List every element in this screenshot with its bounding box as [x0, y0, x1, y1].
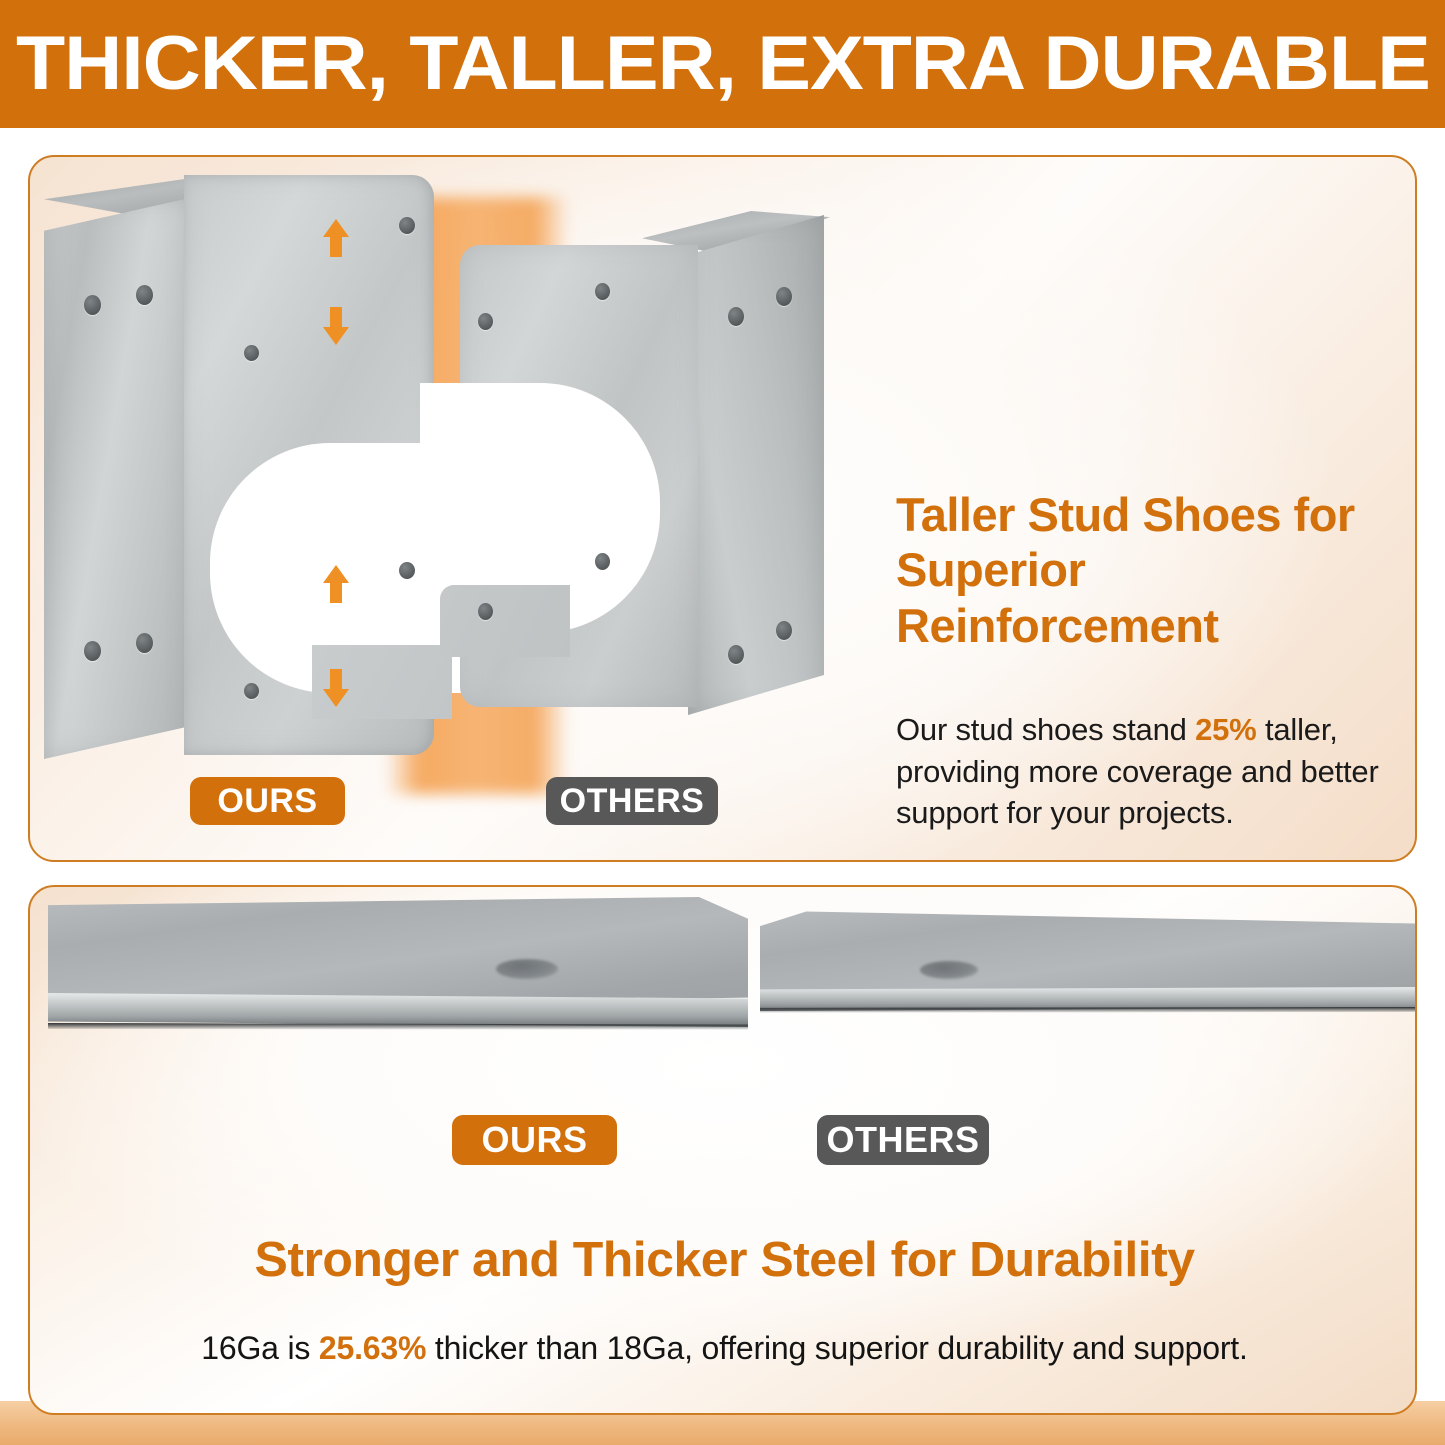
steel-thickness-comparison-photo	[30, 887, 1417, 1187]
screw-hole	[84, 641, 101, 661]
screw-hole	[136, 285, 153, 305]
plate-others-surface-mark	[920, 961, 978, 979]
screw-hole	[776, 621, 792, 640]
banner-title: THICKER, TALLER, EXTRA DURABLE	[16, 26, 1430, 102]
bracket-others-cutout-foot	[440, 585, 570, 657]
header-banner: THICKER, TALLER, EXTRA DURABLE	[0, 0, 1445, 128]
bracket-others-side-flange	[688, 215, 824, 715]
steel-plate-others	[760, 909, 1417, 1031]
screw-hole	[244, 345, 259, 361]
screw-hole	[595, 553, 610, 570]
arrow-up-icon	[321, 563, 351, 605]
stud-shoe-comparison-photo	[30, 157, 830, 797]
screw-hole	[728, 307, 744, 326]
top-card-text-block: Taller Stud Shoes for Superior Reinforce…	[896, 487, 1408, 833]
top-feature-card: Taller Stud Shoes for Superior Reinforce…	[28, 155, 1417, 862]
arrow-down-icon	[321, 305, 351, 347]
screw-hole	[728, 645, 744, 664]
bracket-ours	[44, 175, 434, 767]
screw-hole	[776, 287, 792, 306]
arrow-down-icon	[321, 667, 351, 709]
screw-hole	[136, 633, 153, 653]
screw-hole	[244, 683, 259, 699]
plate-ours-edge-thickness	[48, 993, 748, 1027]
bottom-feature-card: Stronger and Thicker Steel for Durabilit…	[28, 885, 1417, 1415]
bottom-card-sub-highlight: 25.63%	[319, 1330, 426, 1366]
bottom-card-heading: Stronger and Thicker Steel for Durabilit…	[28, 1232, 1417, 1288]
bottom-card-text-block: Stronger and Thicker Steel for Durabilit…	[30, 1232, 1417, 1367]
top-card-body: Our stud shoes stand 25% taller, providi…	[896, 709, 1408, 833]
screw-hole	[84, 295, 101, 315]
top-card-body-prefix: Our stud shoes stand	[896, 712, 1195, 747]
badge-ours-bottom: OURS	[452, 1115, 617, 1165]
screw-hole	[478, 603, 493, 620]
steel-plate-ours	[48, 897, 748, 1033]
bottom-card-subtext: 16Ga is 25.63% thicker than 18Ga, offeri…	[30, 1330, 1417, 1367]
top-card-heading: Taller Stud Shoes for Superior Reinforce…	[896, 487, 1408, 653]
bottom-card-sub-suffix: thicker than 18Ga, offering superior dur…	[426, 1330, 1247, 1366]
arrow-up-icon	[321, 217, 351, 259]
badge-others-bottom: OTHERS	[817, 1115, 989, 1165]
badge-others-top: OTHERS	[546, 777, 718, 825]
bottom-card-sub-prefix: 16Ga is	[201, 1330, 319, 1366]
screw-hole	[399, 562, 415, 579]
top-card-body-highlight: 25%	[1195, 712, 1256, 747]
bracket-ours-side-flange	[44, 197, 194, 759]
badge-ours-top: OURS	[190, 777, 345, 825]
screw-hole	[478, 313, 493, 330]
plate-ours-surface-mark	[496, 959, 558, 979]
bracket-others	[460, 245, 820, 715]
plate-others-drop-shadow	[760, 1007, 1417, 1013]
screw-hole	[595, 283, 610, 300]
screw-hole	[399, 217, 415, 234]
